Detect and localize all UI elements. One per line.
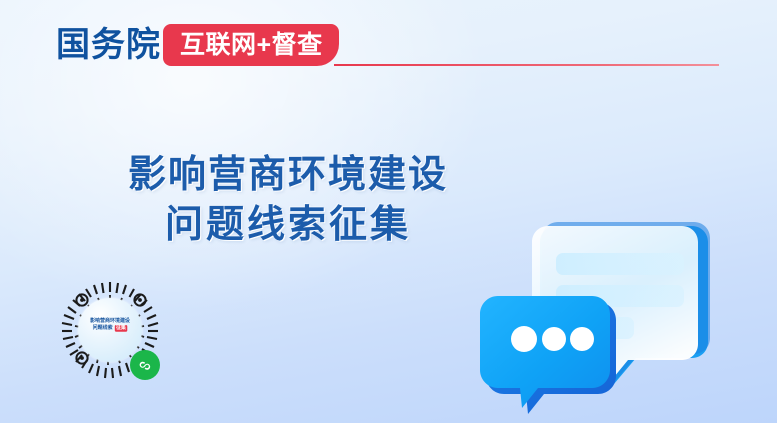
title-line-2: 问题线索征集 bbox=[78, 200, 498, 250]
front-bubble-dots bbox=[511, 326, 594, 352]
wechat-mini-program-badge bbox=[130, 350, 160, 380]
poster-header: 国务院 互联网+督查 bbox=[0, 0, 777, 80]
mini-program-logo-icon bbox=[136, 356, 155, 375]
qr-center-line-1: 影响营商环境建设 bbox=[79, 318, 140, 325]
poster-title: 影响营商环境建设 问题线索征集 bbox=[78, 150, 498, 250]
chat-illustration-svg bbox=[470, 186, 730, 416]
qr-center-text: 影响营商环境建设 问题线索征集 bbox=[79, 318, 140, 331]
campaign-badge: 互联网+督查 bbox=[163, 24, 339, 66]
qr-center-line-2: 问题线索 bbox=[93, 325, 113, 331]
wechat-mini-program-qr-code[interactable]: 影响营商环境建设 问题线索征集 bbox=[52, 272, 168, 388]
qr-center-line-2-wrap: 问题线索征集 bbox=[79, 325, 140, 332]
government-brand-label: 国务院 bbox=[56, 26, 161, 64]
campaign-badge-label: 互联网+督查 bbox=[180, 33, 323, 58]
title-line-1: 影响营商环境建设 bbox=[78, 150, 498, 200]
qr-center-disc: 影响营商环境建设 问题线索征集 bbox=[78, 298, 142, 362]
chat-illustration bbox=[470, 186, 730, 416]
qr-center-tag: 征集 bbox=[115, 325, 128, 332]
header-divider-rule bbox=[334, 64, 719, 66]
poster-canvas: 国务院 互联网+督查 影响营商环境建设 问题线索征集 bbox=[0, 0, 777, 423]
